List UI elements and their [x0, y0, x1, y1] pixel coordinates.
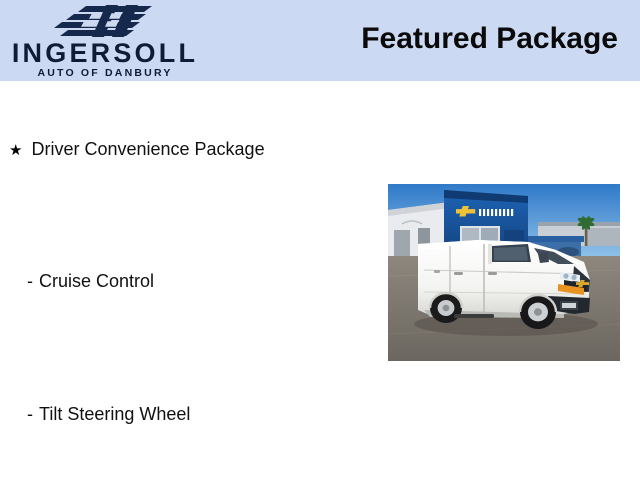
- dealer-logo: INGERSOLL AUTO OF DANBURY: [0, 2, 210, 80]
- dash-bullet-icon: -: [27, 270, 33, 292]
- list-item-label: Tilt Steering Wheel: [39, 403, 190, 425]
- chevrolet-express-cargo-van-photo: [388, 184, 620, 361]
- list-item: - Cruise Control: [27, 270, 154, 292]
- star-bullet-icon: ★: [9, 141, 22, 161]
- list-item-label: Driver Convenience Package: [31, 138, 264, 160]
- dash-bullet-icon: -: [27, 403, 33, 425]
- header-band: INGERSOLL AUTO OF DANBURY Featured Packa…: [0, 0, 640, 81]
- dealer-subtitle: AUTO OF DANBURY: [6, 68, 204, 79]
- slide-content: ★ Driver Convenience Package - Cruise Co…: [0, 81, 640, 480]
- dealer-wordmark: INGERSOLL: [6, 40, 204, 67]
- page-title: Featured Package: [361, 22, 618, 56]
- list-item: ★ Driver Convenience Package: [9, 138, 265, 161]
- list-item: - Tilt Steering Wheel: [27, 403, 190, 425]
- list-item-label: Cruise Control: [39, 270, 154, 292]
- ingersoll-winged-flag-mark-icon: [48, 4, 160, 38]
